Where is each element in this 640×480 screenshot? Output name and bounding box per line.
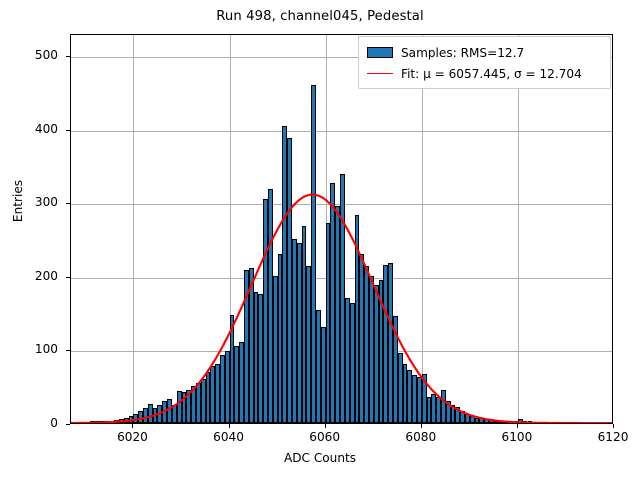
y-tick-label: 100 [0, 342, 58, 356]
y-axis-label: Entries [11, 121, 25, 281]
chart-title: Run 498, channel045, Pedestal [0, 9, 640, 24]
x-tick-label: 6080 [381, 430, 461, 444]
y-tick-label: 200 [0, 269, 58, 283]
legend-swatch-fit-icon [367, 73, 393, 74]
x-tick-mark [421, 424, 422, 428]
fit-curve [71, 35, 612, 423]
y-tick-label: 500 [0, 48, 58, 62]
y-tick-label: 0 [0, 416, 58, 430]
y-tick-label: 400 [0, 122, 58, 136]
legend-item-samples: Samples: RMS=12.7 [367, 42, 603, 63]
x-tick-label: 6060 [285, 430, 365, 444]
y-tick-mark [66, 203, 70, 204]
y-tick-label: 300 [0, 195, 58, 209]
chart-legend: Samples: RMS=12.7 Fit: μ = 6057.445, σ =… [358, 36, 611, 89]
x-tick-label: 6100 [477, 430, 557, 444]
y-tick-mark [66, 350, 70, 351]
gaussian-fit-path [71, 195, 612, 423]
legend-swatch-samples-icon [367, 47, 393, 58]
x-tick-mark [517, 424, 518, 428]
x-tick-label: 6120 [573, 430, 640, 444]
x-axis-label: ADC Counts [0, 451, 640, 465]
x-tick-label: 6020 [92, 430, 172, 444]
y-tick-mark [66, 130, 70, 131]
y-tick-mark [66, 424, 70, 425]
x-tick-label: 6040 [189, 430, 269, 444]
plot-area [70, 34, 613, 424]
legend-label-samples: Samples: RMS=12.7 [401, 46, 524, 60]
x-tick-mark [613, 424, 614, 428]
x-tick-mark [325, 424, 326, 428]
y-tick-mark [66, 56, 70, 57]
y-tick-mark [66, 277, 70, 278]
x-tick-mark [132, 424, 133, 428]
x-tick-mark [229, 424, 230, 428]
legend-label-fit: Fit: μ = 6057.445, σ = 12.704 [401, 67, 582, 81]
chart-figure: Run 498, channel045, Pedestal 0100200300… [0, 0, 640, 480]
legend-item-fit: Fit: μ = 6057.445, σ = 12.704 [367, 63, 603, 84]
